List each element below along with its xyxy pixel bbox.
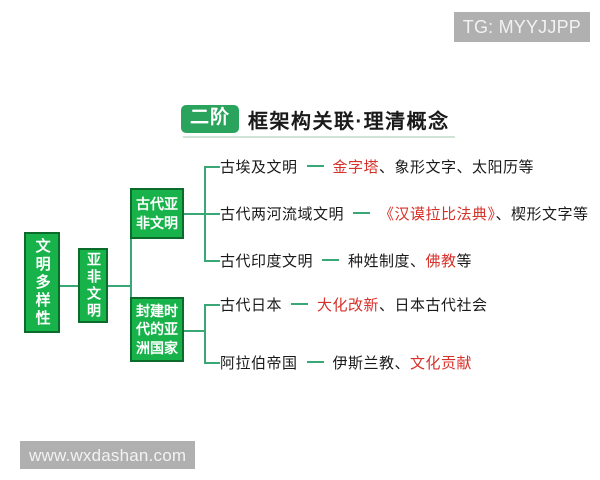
- connector-groupA-branch-2: [204, 213, 220, 215]
- branch-detail: 金字塔、象形文字、太阳历等: [333, 156, 535, 177]
- branch-row[interactable]: 古代印度文明 种姓制度、佛教等: [220, 250, 472, 270]
- branch-detail: 大化改新、日本古代社会: [317, 294, 488, 315]
- branch-detail-part: 佛教: [426, 253, 457, 270]
- node-feudal-line-3: 洲国家: [136, 339, 178, 357]
- branch-detail-part: 、象形文字、太阳历等: [379, 159, 534, 176]
- branch-topic: 古代日本: [220, 294, 282, 315]
- section-title: 二阶 框架构关联·理清概念: [181, 104, 450, 134]
- node-feudal-asian-countries[interactable]: 封建时 代的亚 洲国家: [130, 297, 184, 362]
- branch-detail-part: 金字塔: [333, 159, 380, 176]
- branch-detail-part: 种姓制度、: [348, 253, 426, 270]
- dash-separator-icon: [353, 212, 370, 214]
- node-ancient-line-1: 古代亚: [136, 195, 178, 213]
- branch-row[interactable]: 阿拉伯帝国 伊斯兰教、文化贡献: [220, 352, 472, 372]
- branch-row[interactable]: 古代两河流域文明 《汉谟拉比法典》、楔形文字等: [220, 203, 589, 223]
- node-feudal-line-2: 代的亚: [136, 320, 178, 338]
- connector-level2-stub: [108, 285, 130, 287]
- branch-detail-part: 《汉谟拉比法典》: [379, 206, 496, 223]
- branch-topic: 古代两河流域文明: [220, 203, 344, 224]
- connector-groupB-branch-1: [204, 304, 220, 306]
- node-root[interactable]: 文明多样性: [24, 232, 60, 333]
- section-title-text: 框架构关联·理清概念: [248, 105, 450, 134]
- connector-groupB-branch-2: [204, 362, 220, 364]
- connector-groupA-branch-3: [204, 260, 220, 262]
- branch-row[interactable]: 古代日本 大化改新、日本古代社会: [220, 294, 488, 314]
- section-title-badge: 二阶: [181, 105, 239, 133]
- branch-detail-part: 文化贡献: [410, 355, 472, 372]
- connector-groupB-stub: [184, 330, 204, 332]
- branch-topic: 古埃及文明: [220, 156, 298, 177]
- connector-groupA-stub: [184, 213, 204, 215]
- branch-detail: 伊斯兰教、文化贡献: [333, 352, 473, 373]
- dash-separator-icon: [322, 259, 339, 261]
- title-underline: [183, 136, 455, 138]
- node-ancient-line-2: 非文明: [136, 214, 178, 232]
- branch-detail-part: 伊斯兰教、: [333, 355, 411, 372]
- branch-detail: 种姓制度、佛教等: [348, 250, 472, 271]
- branch-detail-part: 、日本古代社会: [379, 297, 488, 314]
- branch-detail-part: 大化改新: [317, 297, 379, 314]
- node-ancient-asia-africa[interactable]: 古代亚 非文明: [130, 188, 184, 239]
- connector-groupB-spine: [204, 304, 206, 362]
- watermark-top: TG: MYYJJPP: [454, 12, 590, 42]
- node-feudal-line-1: 封建时: [136, 302, 178, 320]
- connector-root-to-level2: [60, 285, 78, 287]
- dash-separator-icon: [291, 303, 308, 305]
- node-level2-asia-africa[interactable]: 亚非文明: [78, 248, 108, 323]
- branch-detail-part: 等: [457, 253, 473, 270]
- branch-detail: 《汉谟拉比法典》、楔形文字等: [379, 203, 589, 224]
- dash-separator-icon: [307, 165, 324, 167]
- mindmap-canvas: TG: MYYJJPP www.wxdashan.com 二阶 框架构关联·理清…: [0, 0, 600, 480]
- dash-separator-icon: [307, 361, 324, 363]
- connector-groupA-branch-1: [204, 166, 220, 168]
- branch-row[interactable]: 古埃及文明 金字塔、象形文字、太阳历等: [220, 156, 534, 176]
- branch-topic: 古代印度文明: [220, 250, 313, 271]
- branch-topic: 阿拉伯帝国: [220, 352, 298, 373]
- branch-detail-part: 、楔形文字等: [496, 206, 589, 223]
- watermark-bottom: www.wxdashan.com: [20, 441, 195, 469]
